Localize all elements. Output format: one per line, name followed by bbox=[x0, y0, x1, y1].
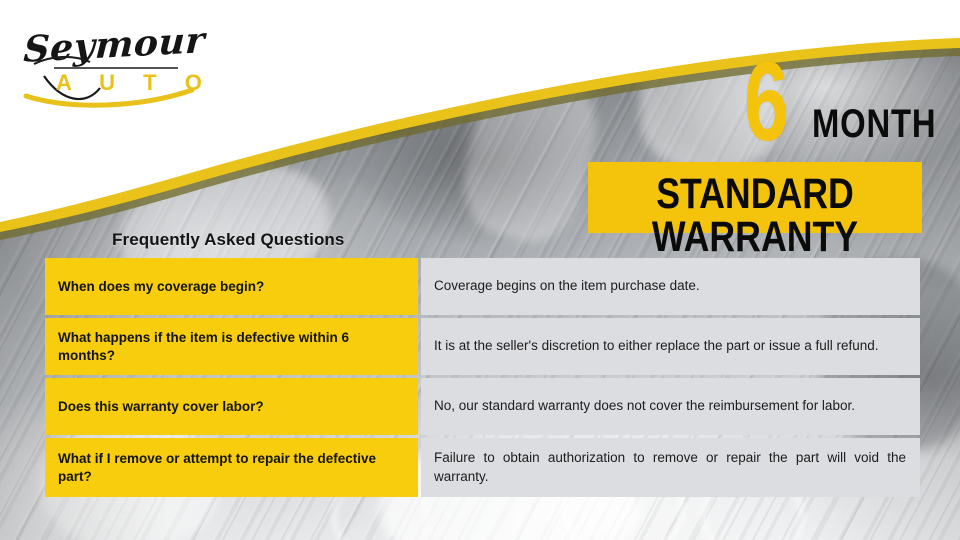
faq-question-cell: What if I remove or attempt to repair th… bbox=[45, 438, 418, 497]
warranty-slide: Seymour A U T O 6 MONTH STANDARD WARRANT… bbox=[0, 0, 960, 540]
duration-number: 6 bbox=[744, 46, 789, 158]
brand-subtitle: A U T O bbox=[56, 70, 213, 96]
warranty-banner-label: STANDARD WARRANTY bbox=[616, 173, 893, 259]
table-row: Does this warranty cover labor? No, our … bbox=[45, 378, 920, 435]
table-row: What happens if the item is defective wi… bbox=[45, 318, 920, 375]
brand-logo: Seymour A U T O bbox=[20, 18, 235, 118]
table-row: What if I remove or attempt to repair th… bbox=[45, 438, 920, 497]
faq-answer-text: It is at the seller's discretion to eith… bbox=[434, 337, 906, 356]
faq-question-cell: What happens if the item is defective wi… bbox=[45, 318, 418, 375]
warranty-banner: STANDARD WARRANTY bbox=[588, 162, 922, 233]
faq-answer-cell: Coverage begins on the item purchase dat… bbox=[421, 258, 920, 315]
faq-heading: Frequently Asked Questions bbox=[112, 230, 344, 250]
table-row: When does my coverage begin? Coverage be… bbox=[45, 258, 920, 315]
faq-answer-text: No, our standard warranty does not cover… bbox=[434, 397, 906, 416]
faq-answer-cell: It is at the seller's discretion to eith… bbox=[421, 318, 920, 375]
faq-question-cell: Does this warranty cover labor? bbox=[45, 378, 418, 435]
faq-question-text: When does my coverage begin? bbox=[58, 278, 264, 296]
faq-question-cell: When does my coverage begin? bbox=[45, 258, 418, 315]
faq-answer-cell: Failure to obtain authorization to remov… bbox=[421, 438, 920, 497]
duration-unit: MONTH bbox=[812, 104, 936, 144]
faq-answer-text: Failure to obtain authorization to remov… bbox=[434, 449, 906, 486]
faq-question-text: What happens if the item is defective wi… bbox=[58, 329, 405, 365]
faq-answer-text: Coverage begins on the item purchase dat… bbox=[434, 277, 906, 296]
faq-question-text: Does this warranty cover labor? bbox=[58, 398, 264, 416]
faq-answer-cell: No, our standard warranty does not cover… bbox=[421, 378, 920, 435]
faq-question-text: What if I remove or attempt to repair th… bbox=[58, 450, 405, 486]
faq-table: When does my coverage begin? Coverage be… bbox=[45, 258, 920, 500]
